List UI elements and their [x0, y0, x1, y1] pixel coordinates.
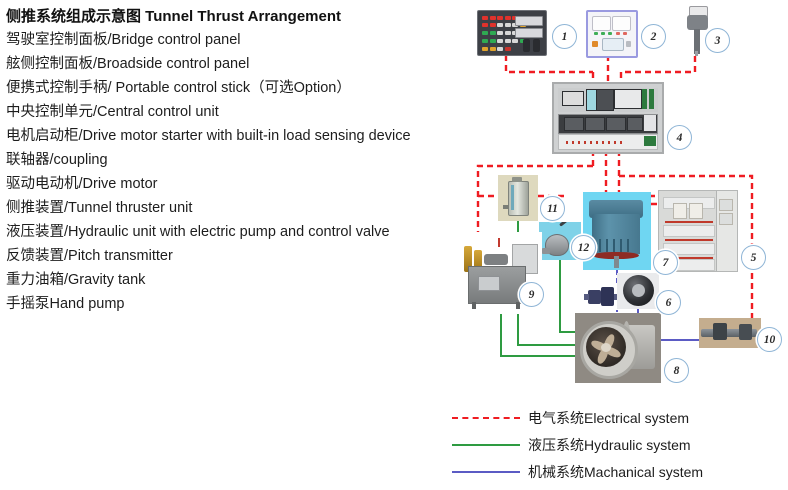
list-item: 侧推装置/Tunnel thruster unit [6, 196, 456, 220]
legend-label: 液压系统Hydraulic system [528, 435, 691, 455]
list-item: 便携式控制手柄/ Portable control stick（可选Option… [6, 76, 456, 100]
legend-row-hydraulic: 液压系统Hydraulic system [452, 431, 788, 458]
list-item: 液压装置/Hydraulic unit with electric pump a… [6, 220, 456, 244]
badge-label: 11 [547, 203, 558, 215]
system-legend: 电气系统Electrical system 液压系统Hydraulic syst… [452, 404, 788, 485]
badge-1[interactable]: 1 [552, 24, 577, 49]
flange-hub [632, 284, 645, 297]
component-list: 侧推系统组成示意图 Tunnel Thrust Arrangement 驾驶室控… [6, 6, 456, 316]
badge-5[interactable]: 5 [741, 245, 766, 270]
mechanical-line-swatch-icon [452, 471, 520, 473]
badge-8[interactable]: 8 [664, 358, 689, 383]
badge-10[interactable]: 10 [757, 327, 782, 352]
badge-label: 2 [651, 31, 657, 43]
badge-label: 12 [578, 242, 590, 254]
badge-label: 6 [666, 297, 672, 309]
linkage-block [713, 323, 727, 340]
badge-11[interactable]: 11 [540, 196, 565, 221]
diagram-page: 侧推系统组成示意图 Tunnel Thrust Arrangement 驾驶室控… [0, 0, 788, 490]
coupling-flange-image [617, 273, 659, 309]
tunnel-thrust-diagram: 1 2 3 [456, 0, 788, 400]
badge-label: 5 [751, 252, 757, 264]
bridge-control-panel-image [477, 10, 547, 56]
badge-7[interactable]: 7 [653, 250, 678, 275]
indicator-light-icon [498, 238, 500, 247]
badge-label: 3 [715, 35, 721, 47]
tank-nozzle [503, 205, 509, 209]
gravity-tank-image [498, 175, 538, 221]
list-item: 重力油箱/Gravity tank [6, 268, 456, 292]
list-item: 电机启动柜/Drive motor starter with built-in … [6, 124, 456, 148]
broadside-control-panel-image [586, 10, 638, 58]
badge-4[interactable]: 4 [667, 125, 692, 150]
badge-label: 4 [677, 132, 683, 144]
badge-12[interactable]: 12 [571, 235, 596, 260]
list-item: 驱动电动机/Drive motor [6, 172, 456, 196]
badge-2[interactable]: 2 [641, 24, 666, 49]
legend-label: 机械系统Machanical system [528, 462, 703, 482]
badge-9[interactable]: 9 [519, 282, 544, 307]
electrical-line-swatch-icon [452, 417, 520, 419]
hydraulic-line-swatch-icon [452, 444, 520, 446]
badge-label: 9 [529, 289, 535, 301]
stick-tip [695, 51, 698, 56]
pump-lever [559, 222, 573, 227]
list-item: 中央控制单元/Central control unit [6, 100, 456, 124]
legend-label: 电气系统Electrical system [528, 408, 689, 428]
list-item: 联轴器/coupling [6, 148, 456, 172]
stick-body [687, 15, 708, 30]
propeller-hub [601, 343, 611, 352]
list-item: 反馈装置/Pitch transmitter [6, 244, 456, 268]
list-item: 驾驶室控制面板/Bridge control panel [6, 28, 456, 52]
central-control-unit-image [552, 82, 664, 154]
legend-row-mechanical: 机械系统Machanical system [452, 458, 788, 485]
badge-6[interactable]: 6 [656, 290, 681, 315]
sight-glass [511, 185, 514, 210]
pitch-transmitter-image [699, 318, 761, 348]
legend-row-electrical: 电气系统Electrical system [452, 404, 788, 431]
badge-label: 8 [674, 365, 680, 377]
drive-motor-image [583, 192, 651, 270]
motor-shaft [614, 256, 619, 268]
pump-motor [484, 254, 508, 265]
pump-port [542, 248, 550, 254]
linkage-block [739, 324, 752, 340]
page-title: 侧推系统组成示意图 Tunnel Thrust Arrangement [6, 6, 456, 28]
badge-label: 1 [562, 31, 568, 43]
list-item: 手摇泵Hand pump [6, 292, 456, 316]
name-plate [478, 276, 500, 291]
badge-label: 10 [764, 334, 776, 346]
list-item: 舷侧控制面板/Broadside control panel [6, 52, 456, 76]
tunnel-thruster-image [575, 313, 661, 383]
badge-3[interactable]: 3 [705, 28, 730, 53]
badge-label: 7 [663, 257, 669, 269]
tank-cap [512, 177, 522, 182]
